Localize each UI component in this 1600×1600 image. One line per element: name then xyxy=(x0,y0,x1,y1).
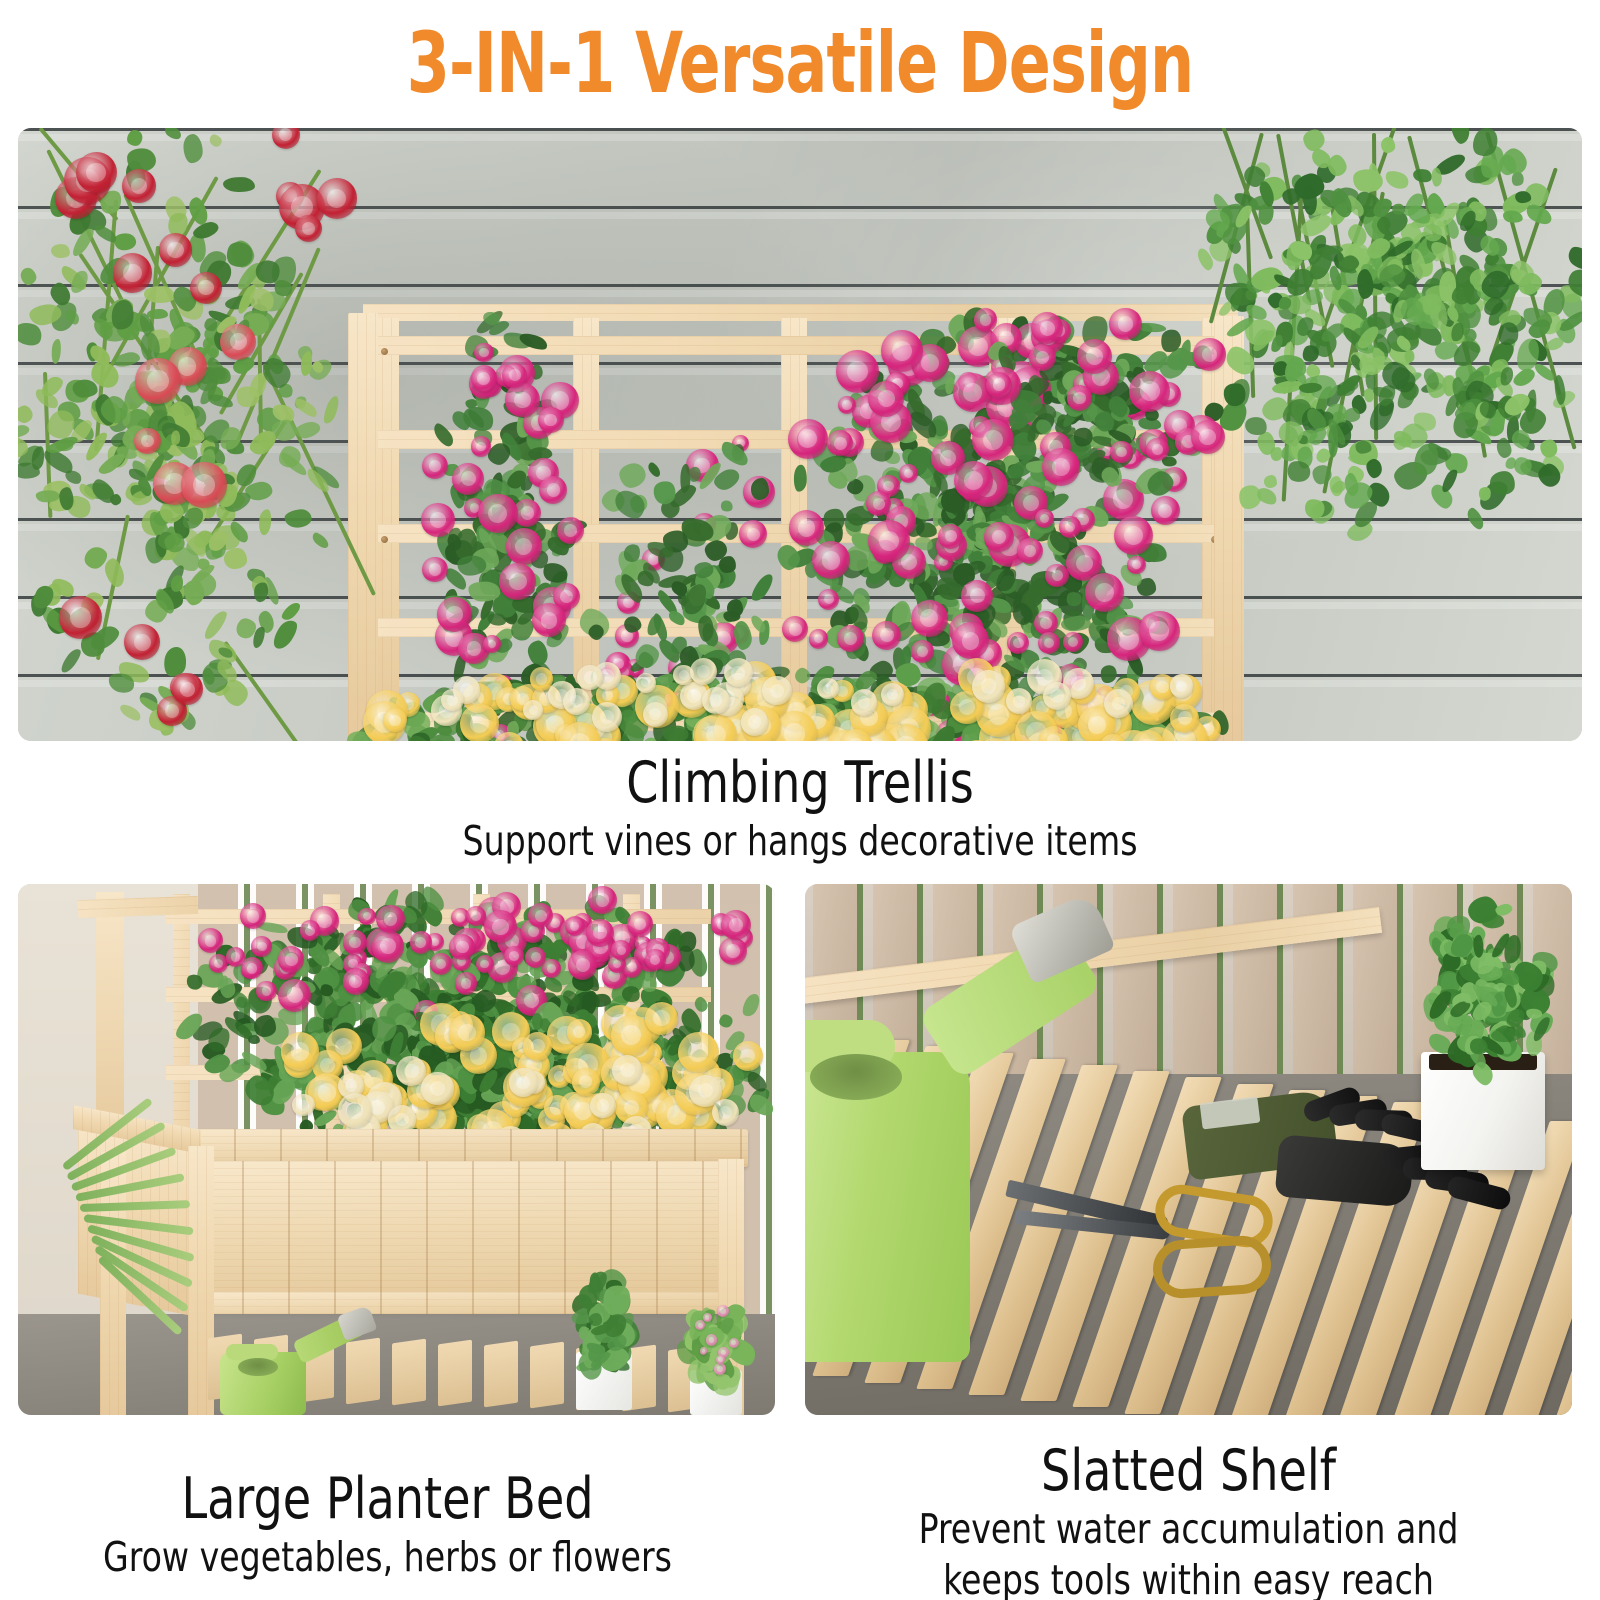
cream-rose xyxy=(636,673,656,693)
red-flower xyxy=(134,428,161,455)
small-flower xyxy=(706,1334,718,1346)
pink-rose xyxy=(809,629,829,649)
cream-rose xyxy=(881,683,904,706)
cream-rose xyxy=(1104,689,1133,718)
cream-rose xyxy=(592,702,622,732)
leaf xyxy=(114,233,137,251)
red-flower xyxy=(272,128,300,149)
pink-rose xyxy=(1035,509,1054,528)
pink-rose xyxy=(974,308,998,332)
palm-foliage xyxy=(36,1124,196,1324)
pink-rose xyxy=(961,580,993,612)
cream-rose xyxy=(690,658,717,685)
pink-rose xyxy=(466,906,486,926)
leaf xyxy=(124,128,146,149)
leaf xyxy=(50,339,62,364)
pink-rose xyxy=(899,464,918,483)
leaf xyxy=(663,725,689,741)
leaf xyxy=(437,724,453,734)
leaf xyxy=(1481,914,1505,928)
leaf xyxy=(1465,506,1486,532)
leaf xyxy=(624,615,643,633)
leaf xyxy=(72,380,97,398)
leaf xyxy=(18,423,30,439)
green-watering-can xyxy=(214,1314,374,1415)
screw-head xyxy=(381,536,388,543)
infographic-page: 3-IN-1 Versatile Design xyxy=(0,0,1600,1600)
shelf-slat xyxy=(484,1341,518,1408)
pink-rose xyxy=(300,920,320,940)
screw-head xyxy=(381,348,388,355)
pink-rose xyxy=(502,363,527,388)
pink-rose xyxy=(198,928,223,953)
leaf xyxy=(258,508,273,535)
small-flower xyxy=(729,1338,739,1348)
leaf xyxy=(118,701,143,723)
leaf xyxy=(1489,469,1517,495)
leaf xyxy=(1392,203,1405,215)
leaf xyxy=(284,508,313,529)
pink-rose xyxy=(1042,448,1080,486)
pink-rose xyxy=(627,911,653,937)
cream-rose xyxy=(509,1068,538,1097)
leaf xyxy=(207,132,224,149)
leaf xyxy=(1263,474,1277,487)
pink-rose xyxy=(1127,556,1145,574)
cream-rose xyxy=(292,1094,314,1116)
can-opening xyxy=(238,1358,278,1376)
leaf xyxy=(1042,390,1053,404)
pink-rose xyxy=(452,463,484,495)
leaf xyxy=(1439,468,1459,494)
pink-rose xyxy=(565,916,585,936)
pink-rose xyxy=(739,520,767,548)
pink-rose xyxy=(568,950,597,979)
pink-rose xyxy=(953,373,992,412)
pink-rose xyxy=(984,522,1014,552)
pink-rose xyxy=(1038,632,1060,654)
leaf xyxy=(748,571,776,604)
pink-rose xyxy=(588,886,616,914)
yellow-rose xyxy=(678,1032,719,1073)
pink-rose xyxy=(789,510,825,546)
pink-rose xyxy=(1139,611,1180,652)
yellow-rose xyxy=(567,1019,592,1044)
pink-rose xyxy=(278,979,311,1012)
pink-rose xyxy=(1067,385,1093,411)
leaf xyxy=(1380,136,1395,153)
pink-rose xyxy=(1063,632,1084,653)
leaf xyxy=(1365,457,1384,479)
cream-rose xyxy=(741,708,768,735)
pink-rose xyxy=(788,419,828,459)
red-flower xyxy=(317,178,357,218)
caption-subtitle-line2: keeps tools within easy reach xyxy=(843,1555,1533,1600)
red-flower xyxy=(172,673,204,705)
pink-rose xyxy=(358,908,375,925)
pink-rose xyxy=(471,365,498,392)
potted-herb-plants xyxy=(558,1274,775,1415)
pink-rose xyxy=(818,589,839,610)
leaf xyxy=(430,421,456,450)
yellow-rose xyxy=(645,1002,678,1035)
leaf xyxy=(1355,440,1371,453)
glove-palm xyxy=(1275,1134,1415,1208)
caption-subtitle-line1: Prevent water accumulation and xyxy=(843,1504,1533,1555)
pink-rose xyxy=(422,453,448,479)
pink-climbing-roses-cluster xyxy=(398,288,1228,741)
leaf xyxy=(202,608,231,642)
leaf xyxy=(517,330,549,352)
pink-rose xyxy=(1077,339,1112,374)
leaf xyxy=(727,599,744,617)
yellow-rose xyxy=(1170,704,1199,733)
pink-rose xyxy=(478,494,518,534)
pink-rose xyxy=(437,597,472,632)
leaf xyxy=(183,134,203,163)
pink-rose xyxy=(557,517,584,544)
leaf xyxy=(751,478,769,500)
red-flower xyxy=(159,233,193,267)
caption-large-planter-bed: Large Planter Bed Grow vegetables, herbs… xyxy=(0,1468,775,1583)
shelf-slat xyxy=(392,1338,426,1405)
pink-rose xyxy=(972,419,1014,461)
pink-rose xyxy=(1114,516,1153,555)
red-flower xyxy=(122,169,156,203)
pink-rose xyxy=(1109,308,1142,341)
leaf xyxy=(223,548,247,569)
small-flower xyxy=(714,1363,726,1375)
red-flower xyxy=(190,272,222,304)
leaf xyxy=(55,439,73,452)
leaf xyxy=(50,243,71,260)
leaf xyxy=(1540,439,1558,457)
pink-rose xyxy=(986,372,1012,398)
yellow-rose xyxy=(494,732,524,741)
pink-rose xyxy=(471,436,491,456)
leaf xyxy=(716,1013,734,1031)
leaf xyxy=(1382,168,1410,192)
pink-rose xyxy=(881,330,923,372)
pink-rose xyxy=(483,635,501,653)
small-flower xyxy=(717,1305,729,1317)
white-pot-with-rosemary xyxy=(1405,904,1572,1204)
planter-flower-mass xyxy=(168,894,768,1164)
leaf xyxy=(103,556,128,589)
panel-slatted-shelf xyxy=(805,884,1572,1415)
leaf xyxy=(1328,425,1339,458)
caption-climbing-trellis: Climbing Trellis Support vines or hangs … xyxy=(0,752,1600,867)
panel-large-planter-bed xyxy=(18,884,775,1415)
cream-rose xyxy=(1043,682,1071,710)
red-flower xyxy=(220,324,256,360)
pink-rose xyxy=(1146,438,1168,460)
red-flower xyxy=(59,596,102,639)
leaf xyxy=(794,464,808,492)
caption-subtitle: Grow vegetables, herbs or flowers xyxy=(39,1532,737,1583)
leaf xyxy=(619,462,648,489)
leaf xyxy=(774,541,802,572)
pink-rose xyxy=(455,972,478,995)
cream-rose xyxy=(643,702,668,727)
yellow-rose xyxy=(460,704,499,741)
pink-rose xyxy=(872,621,901,650)
pink-rose xyxy=(251,936,272,957)
leaf xyxy=(719,499,734,513)
red-flower xyxy=(76,152,117,193)
pink-rose xyxy=(476,955,494,973)
leaf xyxy=(1449,128,1471,145)
pink-rose xyxy=(372,930,405,963)
pink-rose xyxy=(256,981,276,1001)
pink-rose xyxy=(499,563,536,600)
pink-rose xyxy=(1151,496,1180,525)
green-ivy-vine-cluster xyxy=(1198,128,1582,588)
pink-rose xyxy=(505,383,539,417)
leaf xyxy=(311,531,331,551)
panel-climbing-trellis xyxy=(18,128,1582,741)
pink-rose xyxy=(721,910,752,941)
leaf xyxy=(1510,366,1537,391)
pink-rose xyxy=(782,616,808,642)
pink-rose xyxy=(952,622,989,659)
leaf xyxy=(1412,168,1433,185)
pink-rose xyxy=(538,407,564,433)
leaf xyxy=(739,992,763,1020)
yellow-rose xyxy=(572,1068,600,1096)
yellow-rose xyxy=(449,1014,485,1050)
leaf xyxy=(58,646,84,675)
red-flower xyxy=(295,215,322,242)
pink-rose xyxy=(837,625,864,652)
pink-rose xyxy=(343,968,370,995)
cream-rose xyxy=(762,676,791,705)
red-flower xyxy=(135,358,181,404)
pink-rose xyxy=(226,947,246,967)
pink-rose xyxy=(1017,538,1043,564)
yellow-rose-bed xyxy=(348,688,1228,741)
leaf xyxy=(18,403,35,425)
palm-frond xyxy=(80,1200,190,1212)
yellow-rose xyxy=(281,1032,319,1070)
cream-rose xyxy=(712,1099,739,1126)
caption-subtitle: Support vines or hangs decorative items xyxy=(80,816,1520,867)
pink-rose xyxy=(474,343,493,362)
yellow-rose xyxy=(523,1032,552,1061)
leaf xyxy=(254,1015,276,1037)
leaf xyxy=(223,176,256,193)
leaf xyxy=(321,394,342,425)
pink-rose xyxy=(1193,338,1225,370)
pink-rose xyxy=(539,476,567,504)
cream-rose xyxy=(421,1072,453,1104)
red-flower xyxy=(113,253,152,292)
small-flower xyxy=(703,1313,712,1322)
pink-rose xyxy=(525,947,546,968)
cream-rose xyxy=(851,689,877,715)
red-clematis-vine-cluster xyxy=(18,128,378,741)
caption-heading: Large Planter Bed xyxy=(39,1468,737,1532)
cream-rose xyxy=(563,688,590,715)
can-body xyxy=(805,1052,970,1362)
pink-rose xyxy=(410,931,432,953)
pink-rose xyxy=(719,937,747,965)
pink-rose xyxy=(586,919,614,947)
pink-rose xyxy=(911,600,949,638)
pink-rose xyxy=(376,905,404,933)
cream-rose xyxy=(338,1093,372,1127)
caption-heading: Climbing Trellis xyxy=(80,752,1520,816)
pink-rose xyxy=(504,946,524,966)
pink-rose xyxy=(506,528,542,564)
caption-heading: Slatted Shelf xyxy=(843,1440,1533,1504)
can-opening xyxy=(810,1054,902,1100)
cream-rose xyxy=(590,1093,616,1119)
shear-handle xyxy=(1151,1234,1273,1300)
pink-rose xyxy=(421,503,454,536)
pink-rose xyxy=(1059,516,1080,537)
leaf xyxy=(19,266,38,287)
page-title: 3-IN-1 Versatile Design xyxy=(144,8,1456,118)
red-flower xyxy=(124,624,160,660)
caption-slatted-shelf: Slatted Shelf Prevent water accumulation… xyxy=(805,1440,1572,1600)
yellow-rose xyxy=(733,1041,763,1071)
cream-rose xyxy=(972,670,1005,703)
shelf-slat xyxy=(438,1340,472,1407)
pink-rose xyxy=(1191,420,1225,454)
pink-rose xyxy=(422,557,448,583)
leaf xyxy=(646,460,663,479)
pink-rose xyxy=(343,930,367,954)
pink-rose xyxy=(278,946,304,972)
leaf xyxy=(1491,1027,1521,1042)
red-flower xyxy=(181,462,226,507)
leaf xyxy=(162,128,183,142)
cream-rose xyxy=(702,687,730,715)
pink-rose xyxy=(1110,441,1132,463)
